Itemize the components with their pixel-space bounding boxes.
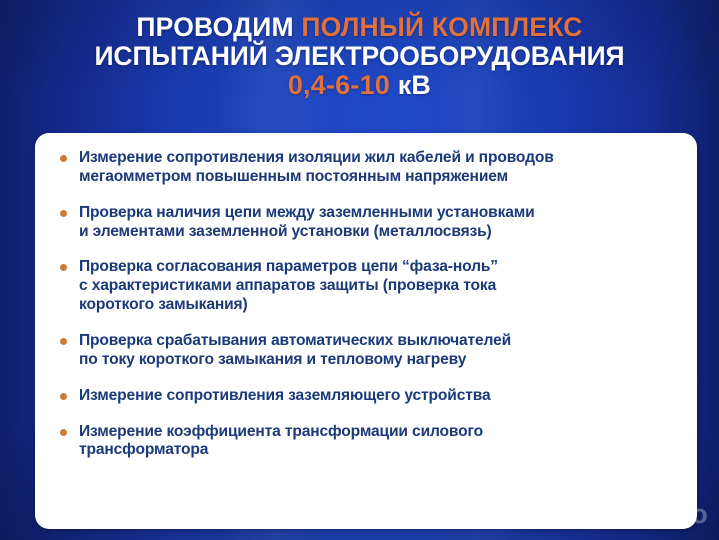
bullet-dot-icon (60, 338, 67, 345)
headline-line-1: ПРОВОДИМ ПОЛНЫЙ КОМПЛЕКС (0, 14, 719, 41)
list-item-line: Проверка согласования параметров цепи “ф… (79, 258, 677, 277)
list-item-line: Проверка наличия цепи между заземленными… (79, 204, 677, 223)
poster-headline: ПРОВОДИМ ПОЛНЫЙ КОМПЛЕКС ИСПЫТАНИЙ ЭЛЕКТ… (0, 14, 719, 99)
list-item-line: с характеристиками аппаратов защиты (про… (79, 277, 677, 296)
list-item: Проверка срабатывания автоматических вык… (55, 332, 677, 370)
list-item-text: Измерение сопротивления заземляющего уст… (79, 387, 677, 406)
headline-voltage-unit: кВ (398, 70, 431, 100)
list-item-line: трансформатора (79, 441, 677, 460)
list-item: Измерение сопротивления изоляции жил каб… (55, 149, 677, 187)
list-item-line: Измерение сопротивления изоляции жил каб… (79, 149, 677, 168)
headline-line-1-accent: ПОЛНЫЙ КОМПЛЕКС (301, 12, 582, 42)
list-item: Проверка наличия цепи между заземленными… (55, 204, 677, 242)
services-bullet-list: Измерение сопротивления изоляции жил каб… (55, 149, 677, 460)
bullet-dot-icon (60, 210, 67, 217)
list-item: Проверка согласования параметров цепи “ф… (55, 258, 677, 315)
list-item-text: Проверка срабатывания автоматических вык… (79, 332, 677, 370)
headline-voltage-value: 0,4-6-10 (288, 70, 390, 100)
list-item-line: мегаомметром повышенным постоянным напря… (79, 168, 677, 187)
headline-line-2: ИСПЫТАНИЙ ЭЛЕКТРООБОРУДОВАНИЯ (0, 43, 719, 70)
list-item: Измерение коэффициента трансформации сил… (55, 423, 677, 461)
list-item-line: Проверка срабатывания автоматических вык… (79, 332, 677, 351)
list-item-text: Проверка наличия цепи между заземленными… (79, 204, 677, 242)
bullet-dot-icon (60, 429, 67, 436)
list-item-line: по току короткого замыкания и тепловому … (79, 351, 677, 370)
bullet-dot-icon (60, 155, 67, 162)
bullet-dot-icon (60, 393, 67, 400)
list-item-text: Измерение коэффициента трансформации сил… (79, 423, 677, 461)
list-item-line: Измерение коэффициента трансформации сил… (79, 423, 677, 442)
list-item-line: короткого замыкания) (79, 296, 677, 315)
services-card: Измерение сопротивления изоляции жил каб… (35, 133, 697, 529)
list-item-line: и элементами заземленной установки (мета… (79, 223, 677, 242)
list-item-text: Проверка согласования параметров цепи “ф… (79, 258, 677, 315)
bullet-dot-icon (60, 264, 67, 271)
headline-line-1-white: ПРОВОДИМ (136, 12, 293, 42)
list-item-line: Измерение сопротивления заземляющего уст… (79, 387, 677, 406)
headline-line-3: 0,4-6-10 кВ (0, 72, 719, 99)
poster-canvas: ПРОВОДИМ ПОЛНЫЙ КОМПЛЕКС ИСПЫТАНИЙ ЭЛЕКТ… (0, 0, 719, 540)
list-item-text: Измерение сопротивления изоляции жил каб… (79, 149, 677, 187)
list-item: Измерение сопротивления заземляющего уст… (55, 387, 677, 406)
